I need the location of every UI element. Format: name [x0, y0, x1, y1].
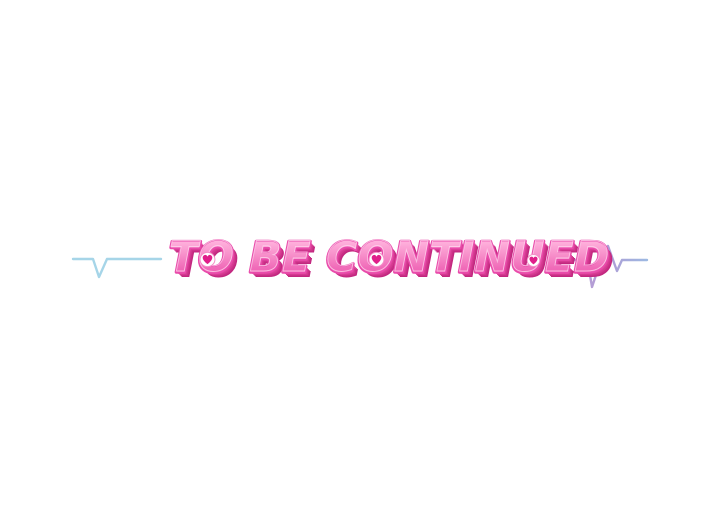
heart-in-letter-o-second [369, 252, 384, 266]
to-be-continued-banner: TO BE CONTINUED TO BE CONTINUED TO BE CO… [0, 232, 720, 294]
banner-text-svg: TO BE CONTINUED TO BE CONTINUED TO BE CO… [167, 232, 559, 294]
heart-in-letter-d [527, 255, 539, 267]
heart-in-letter-o-first [200, 252, 215, 266]
canvas-root: TO BE CONTINUED TO BE CONTINUED TO BE CO… [0, 0, 720, 529]
heartbeat-line-left-icon [71, 243, 163, 283]
banner-text-wordart: TO BE CONTINUED TO BE CONTINUED TO BE CO… [167, 232, 559, 294]
wordart-highlight: TO BE CONTINUED [169, 232, 610, 281]
